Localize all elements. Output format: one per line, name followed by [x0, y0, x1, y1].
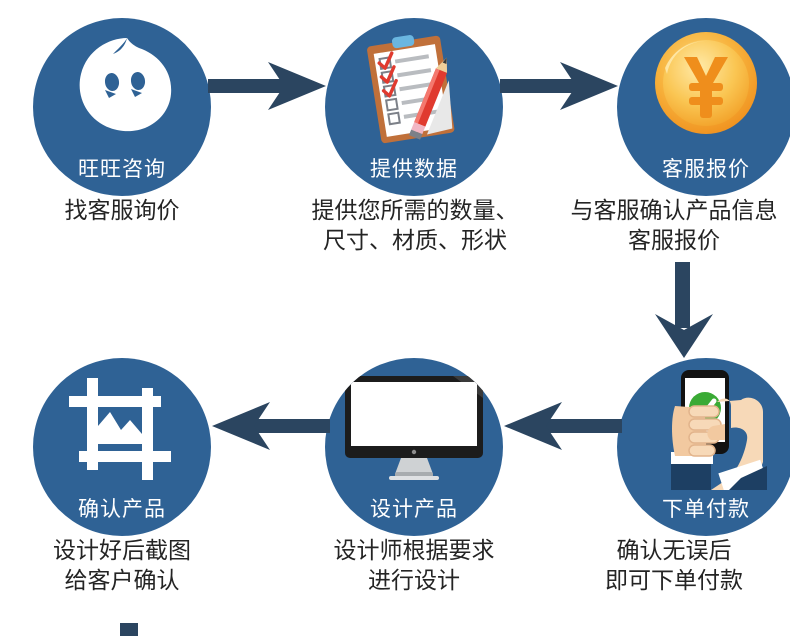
arrow-step2-to-step3: [500, 62, 620, 110]
step-circle: 设计产品: [325, 358, 503, 536]
arrow-step3-to-step4: [655, 262, 713, 360]
step-label: 旺旺咨询: [33, 159, 211, 180]
arrow-step5-to-step6: [502, 402, 622, 450]
step-label: 客服报价: [617, 159, 790, 180]
arrow-step4-to-step5: [210, 402, 330, 450]
flow-diagram: 旺旺咨询: [0, 0, 790, 636]
step-label: 设计产品: [325, 499, 503, 520]
arrow-head-down: [655, 314, 713, 360]
step-caption-quote: 与客服确认产品信息 客服报价: [558, 196, 790, 256]
step-caption-design: 设计师根据要求 进行设计: [272, 536, 556, 596]
step-circle: 旺旺咨询: [33, 18, 211, 196]
step-label: 提供数据: [325, 159, 503, 180]
step-circle: 确认产品: [33, 358, 211, 536]
arrow-head-left: [210, 402, 270, 450]
flow-step-wangwang[interactable]: 旺旺咨询: [33, 18, 211, 196]
step-caption-payment: 确认无误后 即可下单付款: [558, 536, 790, 596]
step-caption-wangwang: 找客服询价: [0, 196, 244, 226]
arrow-step1-to-step2: [208, 62, 328, 110]
step-circle: 客服报价: [617, 18, 790, 196]
arrow-step6-continuation-stub: [120, 623, 138, 636]
step-label: 确认产品: [33, 499, 211, 520]
step-label: 下单付款: [617, 499, 790, 520]
flow-step-provide-data[interactable]: 提供数据: [325, 18, 503, 196]
step-caption-confirm-product: 设计好后截图 给客户确认: [0, 536, 244, 596]
step-circle: 提供数据: [325, 18, 503, 196]
flow-step-payment[interactable]: 下单付款: [617, 358, 790, 536]
arrow-head-right: [268, 62, 328, 110]
flow-step-confirm-product[interactable]: 确认产品: [33, 358, 211, 536]
arrow-head-left: [502, 402, 562, 450]
step-circle: 下单付款: [617, 358, 790, 536]
flow-step-quote[interactable]: 客服报价: [617, 18, 790, 196]
step-caption-provide-data: 提供您所需的数量、 尺寸、材质、形状: [278, 196, 552, 256]
flow-step-design[interactable]: 设计产品: [325, 358, 503, 536]
arrow-head-right: [560, 62, 620, 110]
